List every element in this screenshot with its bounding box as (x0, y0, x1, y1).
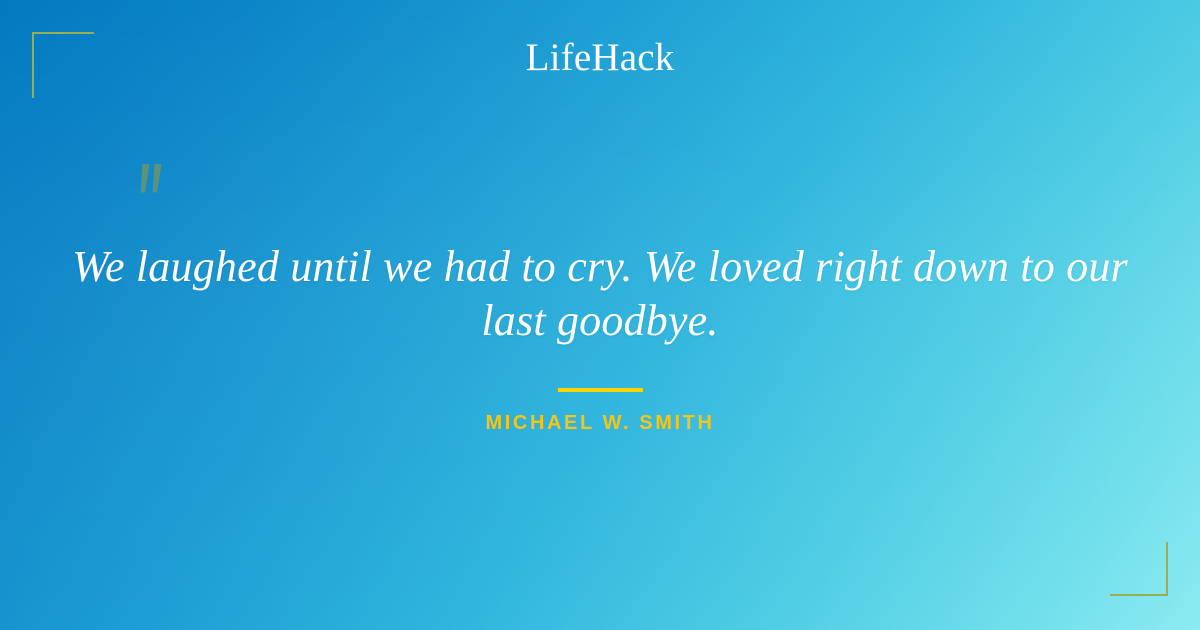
lifehack-logo[interactable]: LifeHack (0, 38, 1200, 77)
attribution-divider (558, 388, 643, 392)
quote-block: We laughed until we had to cry. We loved… (60, 240, 1140, 348)
corner-bracket-vertical-bar (1166, 542, 1168, 596)
corner-bracket-horizontal-bar (32, 32, 94, 34)
attribution-wrap: Michael W. Smith (0, 412, 1200, 435)
corner-bracket-horizontal-bar (1110, 594, 1168, 596)
quote-author: Michael W. Smith (485, 412, 714, 435)
quote-text: We laughed until we had to cry. We loved… (60, 240, 1140, 348)
corner-bracket-bottom-right-icon (1110, 542, 1168, 596)
quotation-mark-icon (126, 158, 186, 218)
quote-card: LifeHack We laughed until we had to cry.… (0, 0, 1200, 630)
divider-wrap (0, 381, 1200, 399)
